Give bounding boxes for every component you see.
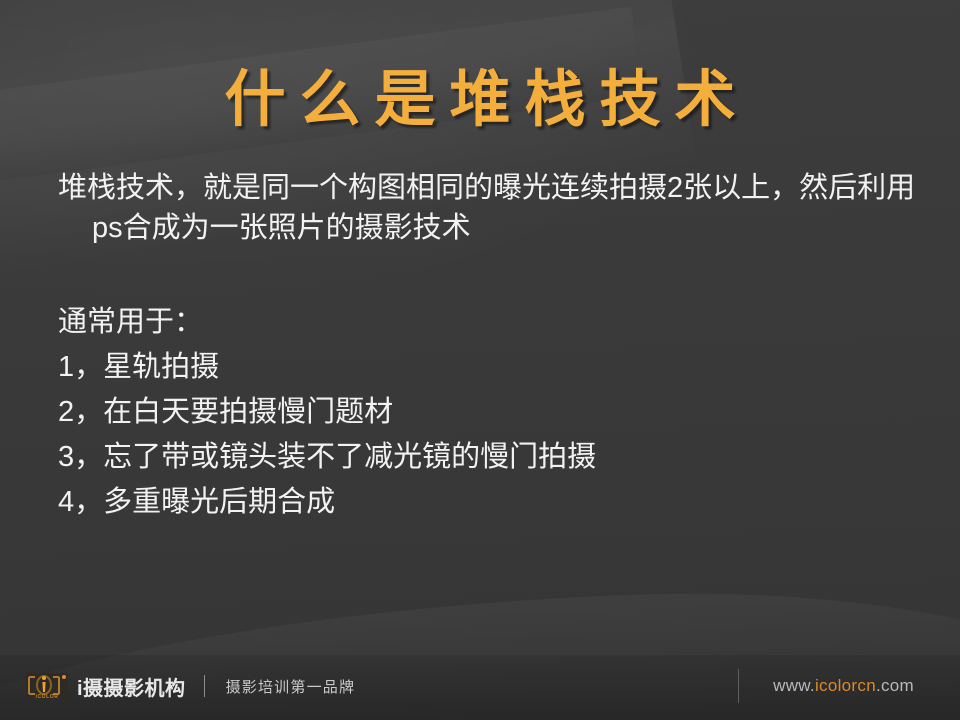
url-suffix: .com <box>876 676 914 695</box>
list-item: 3，忘了带或镜头装不了减光镜的慢门拍摄 <box>58 435 918 480</box>
usage-list-block: 通常用于： 1，星轨拍摄 2，在白天要拍摄慢门题材 3，忘了带或镜头装不了减光镜… <box>58 300 918 525</box>
url-prefix: www. <box>773 676 815 695</box>
usage-list-intro: 通常用于： <box>58 300 918 345</box>
footer-website: www.icolorcn.com <box>738 669 934 703</box>
footer-branding: iCOLOR i摄摄影机构 摄影培训第一品牌 <box>26 672 355 701</box>
brand-tagline: 摄影培训第一品牌 <box>226 676 356 697</box>
list-item: 2，在白天要拍摄慢门题材 <box>58 390 918 435</box>
list-item: 1，星轨拍摄 <box>58 345 918 390</box>
body-paragraph: 堆栈技术，就是同一个构图相同的曝光连续拍摄2张以上，然后利用ps合成为一张照片的… <box>58 168 918 248</box>
slide-footer: iCOLOR i摄摄影机构 摄影培训第一品牌 www.icolorcn.com <box>0 662 960 710</box>
footer-right-divider <box>738 669 739 703</box>
slide-canvas: 什么是堆栈技术 堆栈技术，就是同一个构图相同的曝光连续拍摄2张以上，然后利用ps… <box>0 0 960 720</box>
list-item: 4，多重曝光后期合成 <box>58 480 918 525</box>
svg-text:iCOLOR: iCOLOR <box>35 694 58 699</box>
icolor-logo-icon: iCOLOR <box>26 673 68 699</box>
body-paragraph-block: 堆栈技术，就是同一个构图相同的曝光连续拍摄2张以上，然后利用ps合成为一张照片的… <box>58 168 918 248</box>
footer-divider <box>204 675 205 697</box>
website-url[interactable]: www.icolorcn.com <box>773 676 934 696</box>
background-light-streak <box>0 0 698 309</box>
slide-title: 什么是堆栈技术 <box>0 65 960 133</box>
url-accent: icolorcn <box>815 676 876 695</box>
brand-name: i摄摄影机构 <box>77 672 186 701</box>
